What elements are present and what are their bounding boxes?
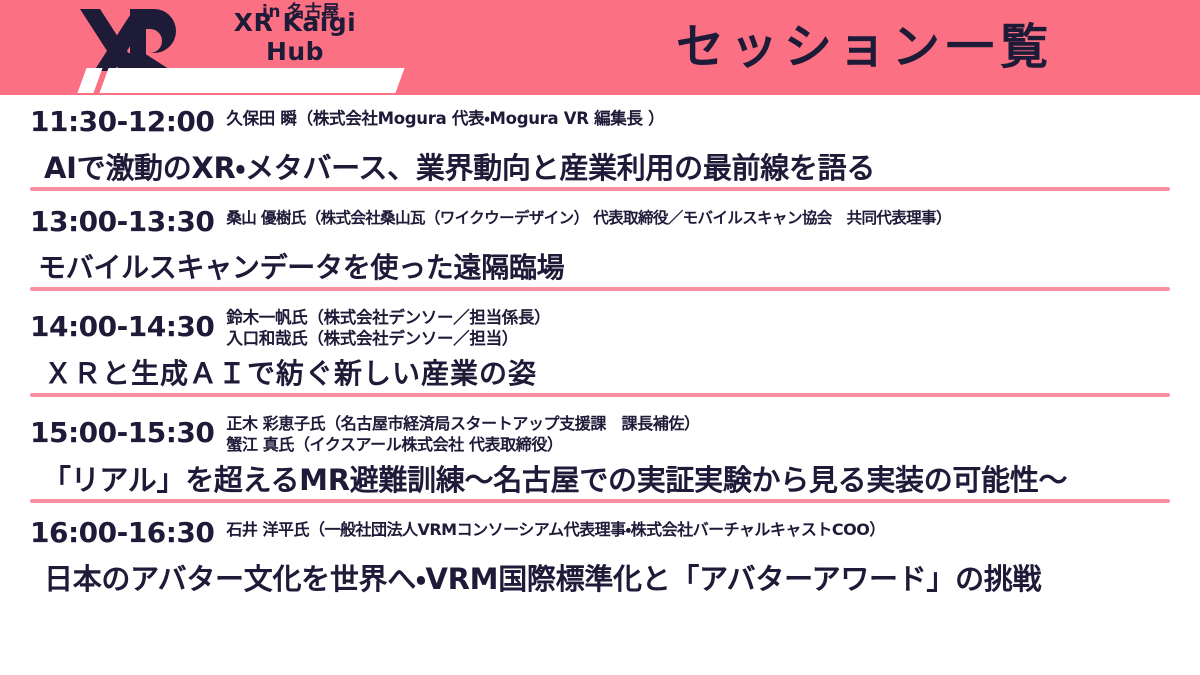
speaker-line: 正木 彩恵子氏（名古屋市経済局スタートアップ支援課 課長補佐）	[226, 413, 1170, 434]
session-time: 14:00-14:30	[30, 304, 226, 344]
city-label: in 名古屋	[262, 1, 402, 24]
session-title: モバイルスキャンデータを使った遠隔臨場	[38, 249, 1170, 287]
session-time: 16:00-16:30	[30, 516, 226, 550]
session-row[interactable]: 11:30-12:00 久保田 瞬（株式会社Mogura 代表・Mogura V…	[0, 95, 1200, 187]
session-title: 「リアル」を超えるMR避難訓練〜名古屋での実証実験から見る実装の可能性〜	[42, 461, 1170, 499]
session-row[interactable]: 15:00-15:30 正木 彩恵子氏（名古屋市経済局スタートアップ支援課 課長…	[0, 397, 1200, 499]
speaker-line: 鈴木一帆氏（株式会社デンソー／担当係長）	[226, 307, 1170, 328]
city-banner	[82, 68, 402, 93]
session-speakers: 正木 彩恵子氏（名古屋市経済局スタートアップ支援課 課長補佐） 蟹江 真氏（イク…	[226, 410, 1170, 455]
session-header: 16:00-16:30 石井 洋平氏（一般社団法人VRMコンソーシアム代表理事・…	[30, 516, 1170, 550]
xr-kaigi-logo-icon	[74, 7, 186, 73]
speaker-line: 石井 洋平氏（一般社団法人VRMコンソーシアム代表理事・株式会社バーチャルキャス…	[226, 519, 1170, 540]
city-banner-plate	[99, 68, 404, 93]
session-row[interactable]: 14:00-14:30 鈴木一帆氏（株式会社デンソー／担当係長） 入口和哉氏（株…	[0, 291, 1200, 393]
session-row[interactable]: 13:00-13:30 桑山 優樹氏（株式会社桑山瓦（ワイクウーデザイン） 代表…	[0, 191, 1200, 287]
session-list-slide: XR Kaigi Hub in 名古屋 セッション一覧 11:30-12:00 …	[0, 0, 1200, 675]
speaker-line: 蟹江 真氏（イクスアール株式会社 代表取締役）	[226, 434, 1170, 455]
speaker-line: 久保田 瞬（株式会社Mogura 代表・Mogura VR 編集長 ）	[226, 108, 1170, 129]
session-speakers: 石井 洋平氏（一般社団法人VRMコンソーシアム代表理事・株式会社バーチャルキャス…	[226, 516, 1170, 540]
speaker-line: 入口和哉氏（株式会社デンソー／担当）	[226, 328, 1170, 349]
session-time: 11:30-12:00	[30, 105, 226, 139]
city-banner-slash	[77, 68, 102, 93]
session-title: 日本のアバター文化を世界へ・VRM国際標準化と「アバターアワード」の挑戦	[44, 560, 1170, 598]
session-speakers: 久保田 瞬（株式会社Mogura 代表・Mogura VR 編集長 ）	[226, 105, 1170, 129]
session-list: 11:30-12:00 久保田 瞬（株式会社Mogura 代表・Mogura V…	[0, 95, 1200, 675]
session-title: ＸＲと生成ＡＩで紡ぐ新しい産業の姿	[44, 355, 1170, 393]
session-header: 14:00-14:30 鈴木一帆氏（株式会社デンソー／担当係長） 入口和哉氏（株…	[30, 304, 1170, 349]
session-title: AIで激動のXR・メタバース、業界動向と産業利用の最前線を語る	[44, 149, 1170, 187]
session-speakers: 鈴木一帆氏（株式会社デンソー／担当係長） 入口和哉氏（株式会社デンソー／担当）	[226, 304, 1170, 349]
session-speakers: 桑山 優樹氏（株式会社桑山瓦（ワイクウーデザイン） 代表取締役／モバイルスキャン…	[226, 205, 1170, 229]
session-time: 13:00-13:30	[30, 205, 226, 239]
page-title: セッション一覧	[600, 6, 1130, 88]
brand-name-line2: Hub	[190, 37, 400, 66]
brand-lockup: XR Kaigi Hub in 名古屋	[72, 0, 402, 95]
speaker-line: 桑山 優樹氏（株式会社桑山瓦（ワイクウーデザイン） 代表取締役／モバイルスキャン…	[226, 208, 1170, 229]
session-time: 15:00-15:30	[30, 410, 226, 450]
session-header: 13:00-13:30 桑山 優樹氏（株式会社桑山瓦（ワイクウーデザイン） 代表…	[30, 205, 1170, 239]
slide-header: XR Kaigi Hub in 名古屋 セッション一覧	[0, 0, 1200, 95]
session-header: 11:30-12:00 久保田 瞬（株式会社Mogura 代表・Mogura V…	[30, 105, 1170, 139]
session-header: 15:00-15:30 正木 彩恵子氏（名古屋市経済局スタートアップ支援課 課長…	[30, 410, 1170, 455]
session-row[interactable]: 16:00-16:30 石井 洋平氏（一般社団法人VRMコンソーシアム代表理事・…	[0, 503, 1200, 598]
